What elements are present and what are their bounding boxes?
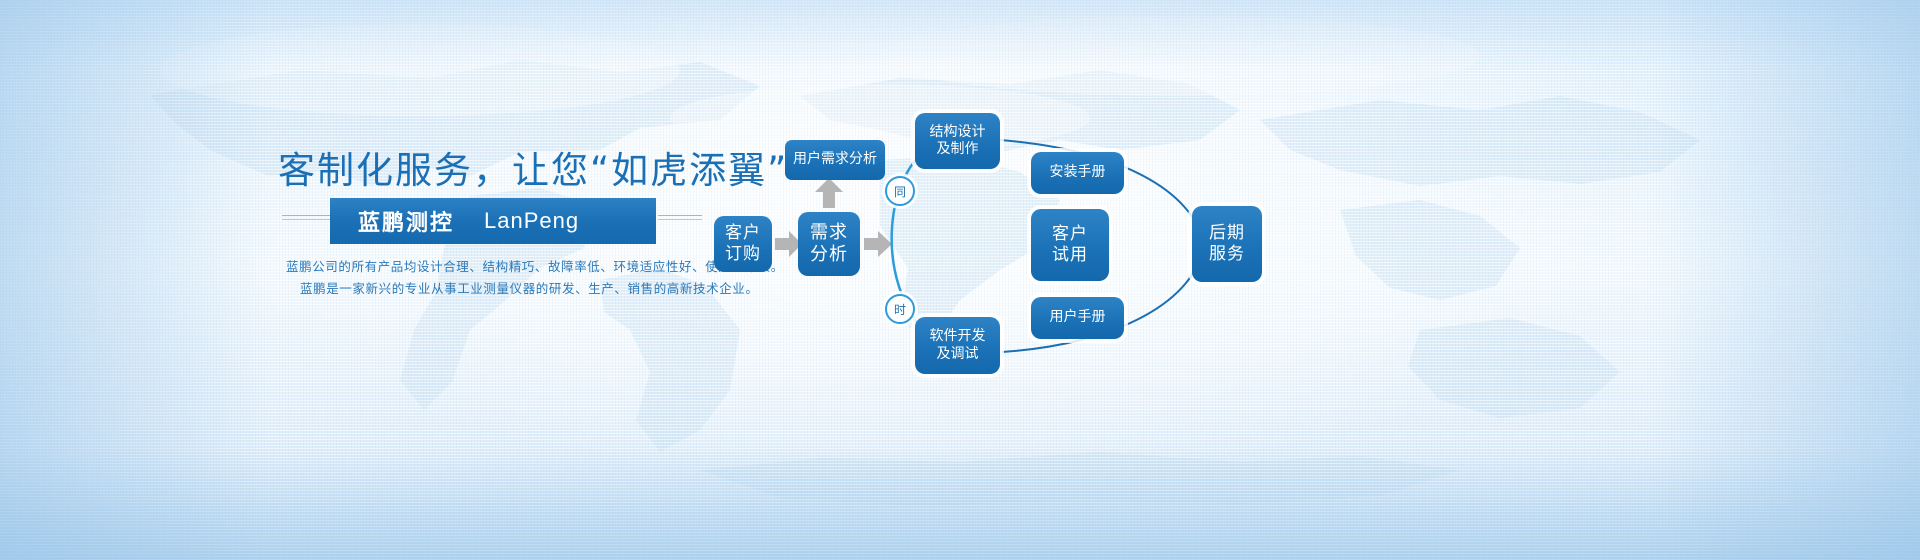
flow-connectors bbox=[0, 0, 1920, 560]
flow-node-install-manual-label: 安装手册 bbox=[1050, 164, 1106, 181]
flow-node-structure-label: 结构设计及制作 bbox=[930, 124, 986, 158]
flow-node-analysis-label: 需求分析 bbox=[810, 222, 848, 266]
cycle-badge-tong-label: 同 bbox=[894, 183, 906, 200]
cycle-badge-shi-label: 时 bbox=[894, 301, 906, 318]
flow-node-user-manual[interactable]: 用户手册 bbox=[1031, 297, 1124, 339]
flow-node-user-need[interactable]: 用户需求分析 bbox=[785, 140, 885, 180]
arrow-analysis-to-userneed bbox=[815, 178, 843, 208]
banner: 客制化服务，让您“如虎添翼” 蓝鹏测控 LanPeng 蓝鹏公司的所有产品均设计… bbox=[0, 0, 1920, 560]
flow-node-software[interactable]: 软件开发及调试 bbox=[915, 317, 1000, 374]
flow-node-analysis[interactable]: 需求分析 bbox=[798, 212, 860, 276]
arrow-analysis-to-cycle bbox=[864, 231, 892, 257]
flow-node-order[interactable]: 客户订购 bbox=[714, 216, 772, 272]
flow-node-post-service-label: 后期服务 bbox=[1209, 223, 1245, 264]
flow-node-order-label: 客户订购 bbox=[725, 223, 761, 264]
flow-node-software-label: 软件开发及调试 bbox=[930, 328, 986, 362]
flow-node-install-manual[interactable]: 安装手册 bbox=[1031, 152, 1124, 194]
cycle-badge-shi: 时 bbox=[885, 294, 915, 324]
flow-node-user-manual-label: 用户手册 bbox=[1050, 309, 1106, 326]
cycle-badge-tong: 同 bbox=[885, 176, 915, 206]
flow-node-customer-trial-label: 客户试用 bbox=[1052, 224, 1088, 265]
process-flow-diagram: 用户需求分析 客户订购 需求分析 结构设计及制作 软件开发及调试 安装手册 用户… bbox=[0, 0, 1920, 560]
flow-node-user-need-label: 用户需求分析 bbox=[793, 151, 877, 168]
flow-node-structure[interactable]: 结构设计及制作 bbox=[915, 113, 1000, 169]
flow-node-customer-trial[interactable]: 客户试用 bbox=[1031, 209, 1109, 281]
flow-node-post-service[interactable]: 后期服务 bbox=[1192, 206, 1262, 282]
